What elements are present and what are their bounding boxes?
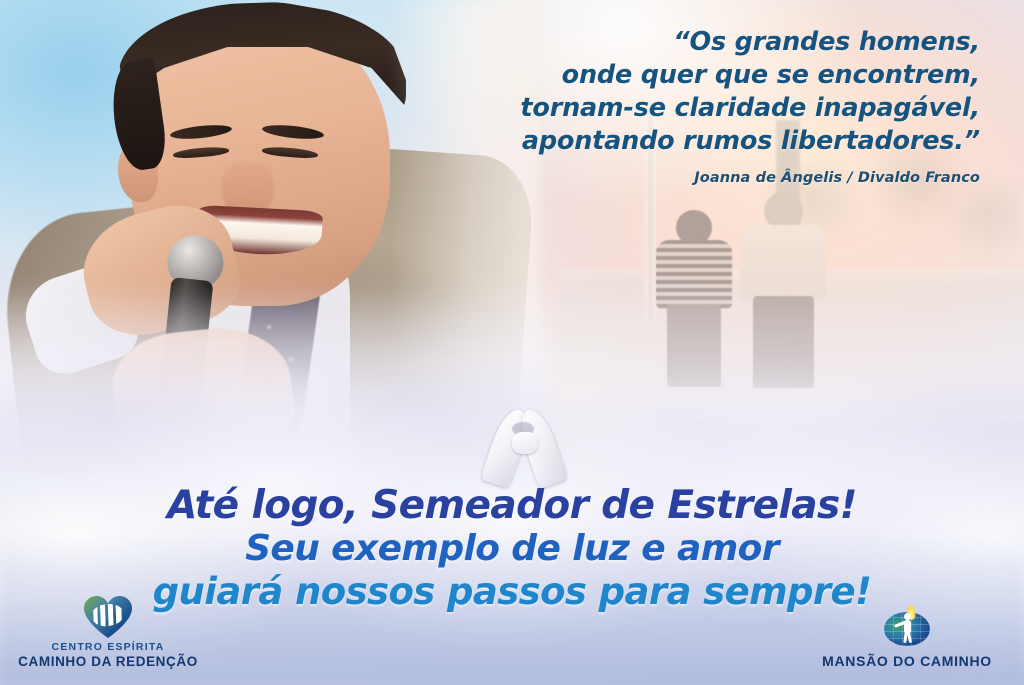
logo-left-line-1: CENTRO ESPÍRITA	[10, 641, 206, 653]
logo-mark-left	[10, 595, 206, 639]
logo-mark-right	[802, 606, 1012, 650]
globe-figure-flame-icon	[882, 606, 932, 650]
memorial-poster: “Os grandes homens, onde quer que se enc…	[0, 0, 1024, 685]
logo-centro-espirita-caminho-da-redencao: CENTRO ESPÍRITA CAMINHO DA REDENÇÃO	[10, 595, 206, 669]
heart-hands-icon	[82, 595, 134, 639]
ribbon-knot	[512, 432, 538, 454]
headline-line-2: Seu exemplo de luz e amor	[0, 531, 1024, 567]
headline-block: Até logo, Semeador de Estrelas! Seu exem…	[0, 486, 1024, 610]
logo-left-line-2: CAMINHO DA REDENÇÃO	[10, 654, 206, 669]
headline-line-1: Até logo, Semeador de Estrelas!	[0, 486, 1024, 525]
quote-line-2: onde quer que se encontrem,	[420, 59, 980, 92]
quote-line-1: “Os grandes homens,	[420, 26, 980, 59]
figure-leg-right	[907, 632, 912, 643]
logo-mansao-do-caminho: MANSÃO DO CAMINHO	[802, 606, 1012, 669]
quote-block: “Os grandes homens, onde quer que se enc…	[420, 26, 980, 186]
quote-line-4: apontando rumos libertadores.”	[420, 125, 980, 158]
human-figure-shape	[902, 613, 913, 643]
mourning-ribbon-icon	[486, 408, 562, 492]
quote-line-3: tornam-se claridade inapagável,	[420, 92, 980, 125]
quote-author: Joanna de Ângelis / Divaldo Franco	[420, 170, 980, 186]
logo-right-name: MANSÃO DO CAMINHO	[802, 653, 1012, 669]
